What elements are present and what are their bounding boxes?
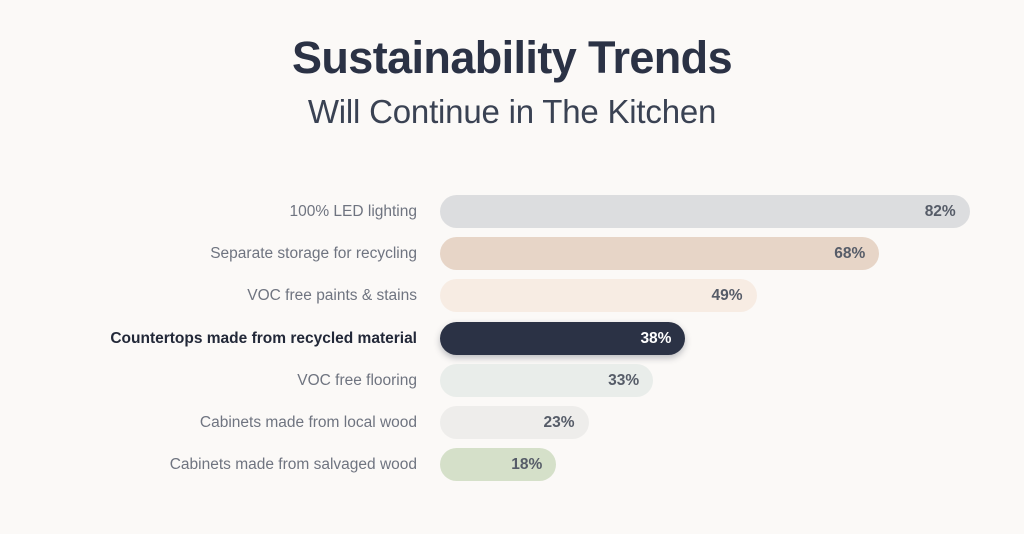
bar-value-label: 33% xyxy=(608,364,639,397)
bar-row: Separate storage for recycling68% xyxy=(0,237,1024,270)
bar-track: 49% xyxy=(440,279,1024,312)
bar-row: 100% LED lighting82% xyxy=(0,195,1024,228)
bar-category-label: 100% LED lighting xyxy=(289,195,417,228)
bar-fill: 38% xyxy=(440,322,685,355)
bar-category-label: Cabinets made from salvaged wood xyxy=(170,448,417,481)
bar-category-label: Cabinets made from local wood xyxy=(200,406,417,439)
bar-fill: 18% xyxy=(440,448,556,481)
bar-category-label: Countertops made from recycled material xyxy=(110,322,417,355)
bar-fill: 33% xyxy=(440,364,653,397)
bar-category-label: Separate storage for recycling xyxy=(210,237,417,270)
bar-row: Countertops made from recycled material3… xyxy=(0,322,1024,355)
page-subtitle: Will Continue in The Kitchen xyxy=(0,93,1024,131)
bar-category-label: VOC free flooring xyxy=(297,364,417,397)
bar-row: Cabinets made from local wood23% xyxy=(0,406,1024,439)
bar-fill: 68% xyxy=(440,237,879,270)
bar-row: VOC free flooring33% xyxy=(0,364,1024,397)
bar-track: 82% xyxy=(440,195,1024,228)
bar-value-label: 38% xyxy=(640,322,671,355)
bar-value-label: 23% xyxy=(544,406,575,439)
bar-value-label: 18% xyxy=(511,448,542,481)
bar-fill: 82% xyxy=(440,195,970,228)
bar-fill: 49% xyxy=(440,279,757,312)
bar-value-label: 68% xyxy=(834,237,865,270)
bar-track: 23% xyxy=(440,406,1024,439)
chart-canvas: Sustainability Trends Will Continue in T… xyxy=(0,0,1024,534)
bar-track: 18% xyxy=(440,448,1024,481)
page-title: Sustainability Trends xyxy=(0,34,1024,83)
chart-header: Sustainability Trends Will Continue in T… xyxy=(0,34,1024,131)
bar-track: 38% xyxy=(440,322,1024,355)
bar-value-label: 82% xyxy=(925,195,956,228)
bar-value-label: 49% xyxy=(712,279,743,312)
bar-chart-plot: 100% LED lighting82%Separate storage for… xyxy=(0,195,1024,490)
bar-category-label: VOC free paints & stains xyxy=(247,279,417,312)
bar-row: VOC free paints & stains49% xyxy=(0,279,1024,312)
bar-row: Cabinets made from salvaged wood18% xyxy=(0,448,1024,481)
bar-fill: 23% xyxy=(440,406,589,439)
bar-track: 33% xyxy=(440,364,1024,397)
bar-track: 68% xyxy=(440,237,1024,270)
